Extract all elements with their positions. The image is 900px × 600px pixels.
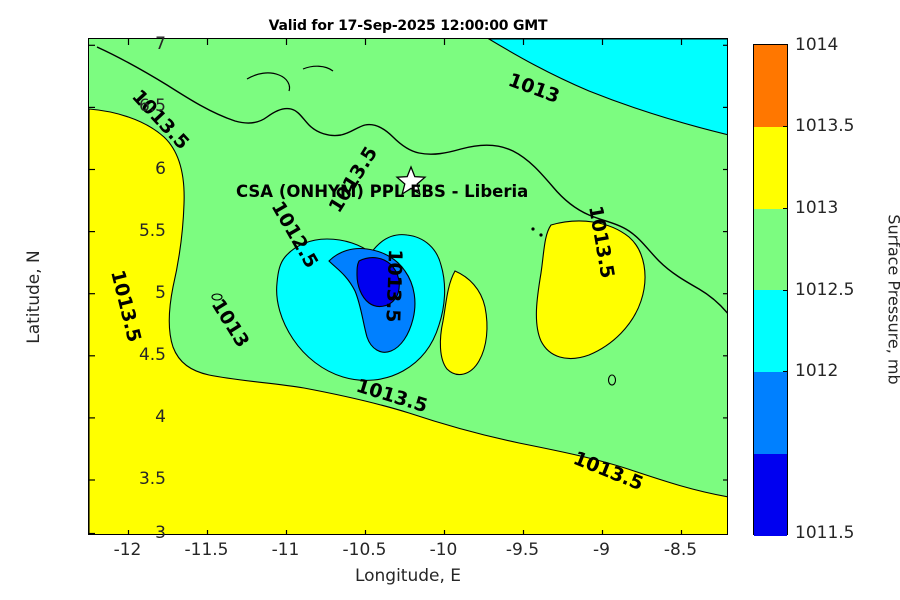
page-title: Valid for 17-Sep-2025 12:00:00 GMT — [88, 18, 728, 34]
site-annotation-label: CSA (ONHYM) PPL EBS - Liberia — [236, 182, 528, 201]
colorbar-band-1012p5 — [754, 290, 787, 372]
xtick-m8p5: -8.5 — [641, 540, 721, 560]
x-axis-label: Longitude, E — [88, 566, 728, 586]
figure-root: Valid for 17-Sep-2025 12:00:00 GMT — [0, 0, 900, 600]
ytick-4: 4 — [106, 407, 166, 427]
ytick-5p5: 5.5 — [106, 221, 166, 241]
colorbar-tick-1012: 1012 — [795, 361, 838, 381]
ytick-5: 5 — [106, 283, 166, 303]
colorbar-tick-1012p5: 1012.5 — [795, 280, 854, 300]
contour-map-svg: 1013.5 1013 1013.5 1013 1012.5 1013.5 10… — [89, 39, 728, 535]
colorbar-band-1013p5 — [754, 127, 787, 209]
colorbar-tickmark-1013p5 — [783, 126, 788, 127]
colorbar-tick-1013: 1013 — [795, 198, 838, 218]
xtick-m9: -9 — [562, 540, 642, 560]
xtick-m12: -12 — [88, 540, 168, 560]
colorbar-tickmark-1013 — [783, 208, 788, 209]
colorbar-band-1011p5 — [754, 454, 787, 536]
y-axis-label: Latitude, N — [24, 167, 44, 427]
ytick-7: 7 — [106, 34, 166, 54]
map-dot-2 — [539, 233, 542, 236]
contour-label-mid-vertical: 1013.5 — [381, 249, 406, 323]
map-dot-1 — [531, 227, 534, 230]
ytick-6p5: 6.5 — [106, 96, 166, 116]
xtick-m9p5: -9.5 — [483, 540, 563, 560]
colorbar-band-1012 — [754, 372, 787, 454]
xtick-m10p5: -10.5 — [325, 540, 405, 560]
ytick-3p5: 3.5 — [106, 469, 166, 489]
xtick-m11: -11 — [246, 540, 326, 560]
ytick-4p5: 4.5 — [106, 345, 166, 365]
colorbar-label: Surface Pressure, mb — [885, 150, 900, 450]
colorbar-tickmark-1012p5 — [783, 290, 788, 291]
colorbar-tick-1013p5: 1013.5 — [795, 116, 854, 136]
xtick-m10: -10 — [404, 540, 484, 560]
colorbar-band-1013 — [754, 209, 787, 291]
contour-map-plot[interactable]: 1013.5 1013 1013.5 1013 1012.5 1013.5 10… — [88, 38, 728, 535]
colorbar-band-1014 — [754, 45, 787, 127]
ytick-6: 6 — [106, 159, 166, 179]
colorbar-tickmark-1012 — [783, 371, 788, 372]
colorbar-tick-1014: 1014 — [795, 35, 838, 55]
colorbar-tick-1011p5: 1011.5 — [795, 523, 854, 543]
xtick-m11p5: -11.5 — [167, 540, 247, 560]
